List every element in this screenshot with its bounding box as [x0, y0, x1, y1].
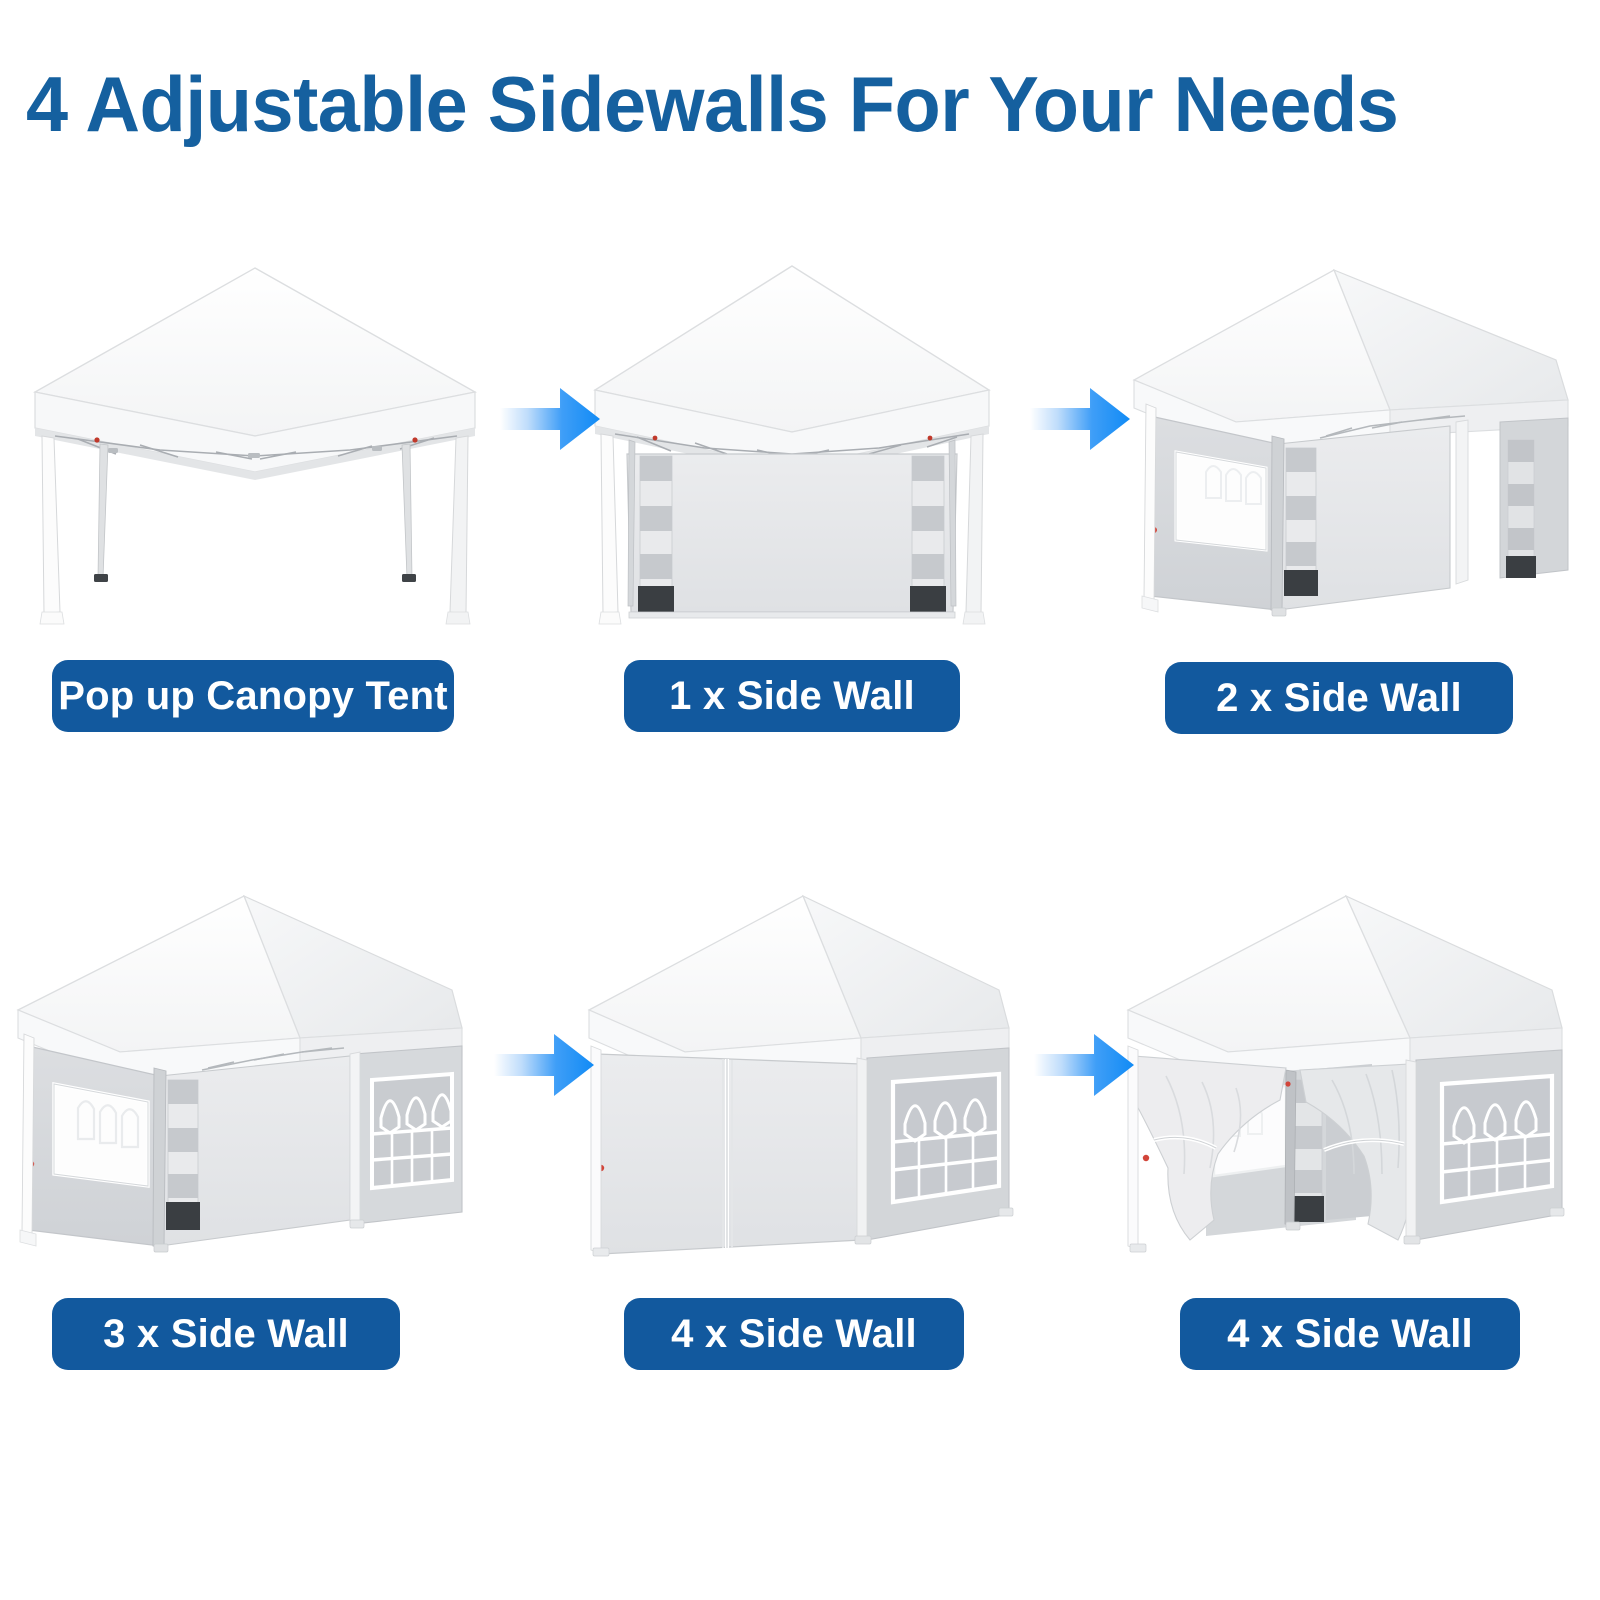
flow-arrow-right-icon [1028, 382, 1132, 456]
velcro-strip-far [1508, 440, 1534, 564]
weight-bag-corner [1284, 570, 1318, 596]
flow-arrow-right-icon [498, 382, 602, 456]
canopy-tent-two-walls-icon [1120, 240, 1570, 640]
canopy-tent-four-walls-closed-icon [575, 868, 1015, 1278]
cathedral-window-right [1442, 1076, 1552, 1202]
label-pill-four-side-wall-open: 4 x Side Wall [1180, 1298, 1520, 1370]
canopy-tent-no-walls-icon [20, 240, 490, 640]
velcro-strip-left [640, 456, 672, 604]
weight-bag-interior [1292, 1196, 1324, 1222]
canopy-tent-one-wall-icon [585, 240, 1000, 640]
cathedral-window-right [893, 1074, 999, 1202]
velcro-strip-corner [1286, 448, 1316, 588]
cathedral-window-right [372, 1074, 452, 1188]
label-pill-one-side-wall: 1 x Side Wall [624, 660, 960, 732]
page-title: 4 Adjustable Sidewalls For Your Needs [26, 58, 1481, 150]
flow-arrow-right-icon [492, 1028, 596, 1102]
clear-window-left [54, 1084, 148, 1186]
clear-window-left [1176, 452, 1266, 550]
flow-arrow-right-icon [1032, 1028, 1136, 1102]
canopy-tent-four-walls-open-door-icon [1110, 868, 1570, 1278]
label-pill-three-side-wall: 3 x Side Wall [52, 1298, 400, 1370]
weight-bag-left [638, 586, 674, 612]
canopy-tent-three-walls-icon [0, 868, 470, 1278]
velcro-strip-corner [168, 1080, 198, 1222]
label-pill-pop-up-canopy-tent: Pop up Canopy Tent [52, 660, 454, 732]
weight-bag-right [910, 586, 946, 612]
label-pill-two-side-wall: 2 x Side Wall [1165, 662, 1513, 734]
label-pill-four-side-wall-closed: 4 x Side Wall [624, 1298, 964, 1370]
weight-bag-corner [166, 1202, 200, 1230]
velcro-strip-right [912, 456, 944, 604]
